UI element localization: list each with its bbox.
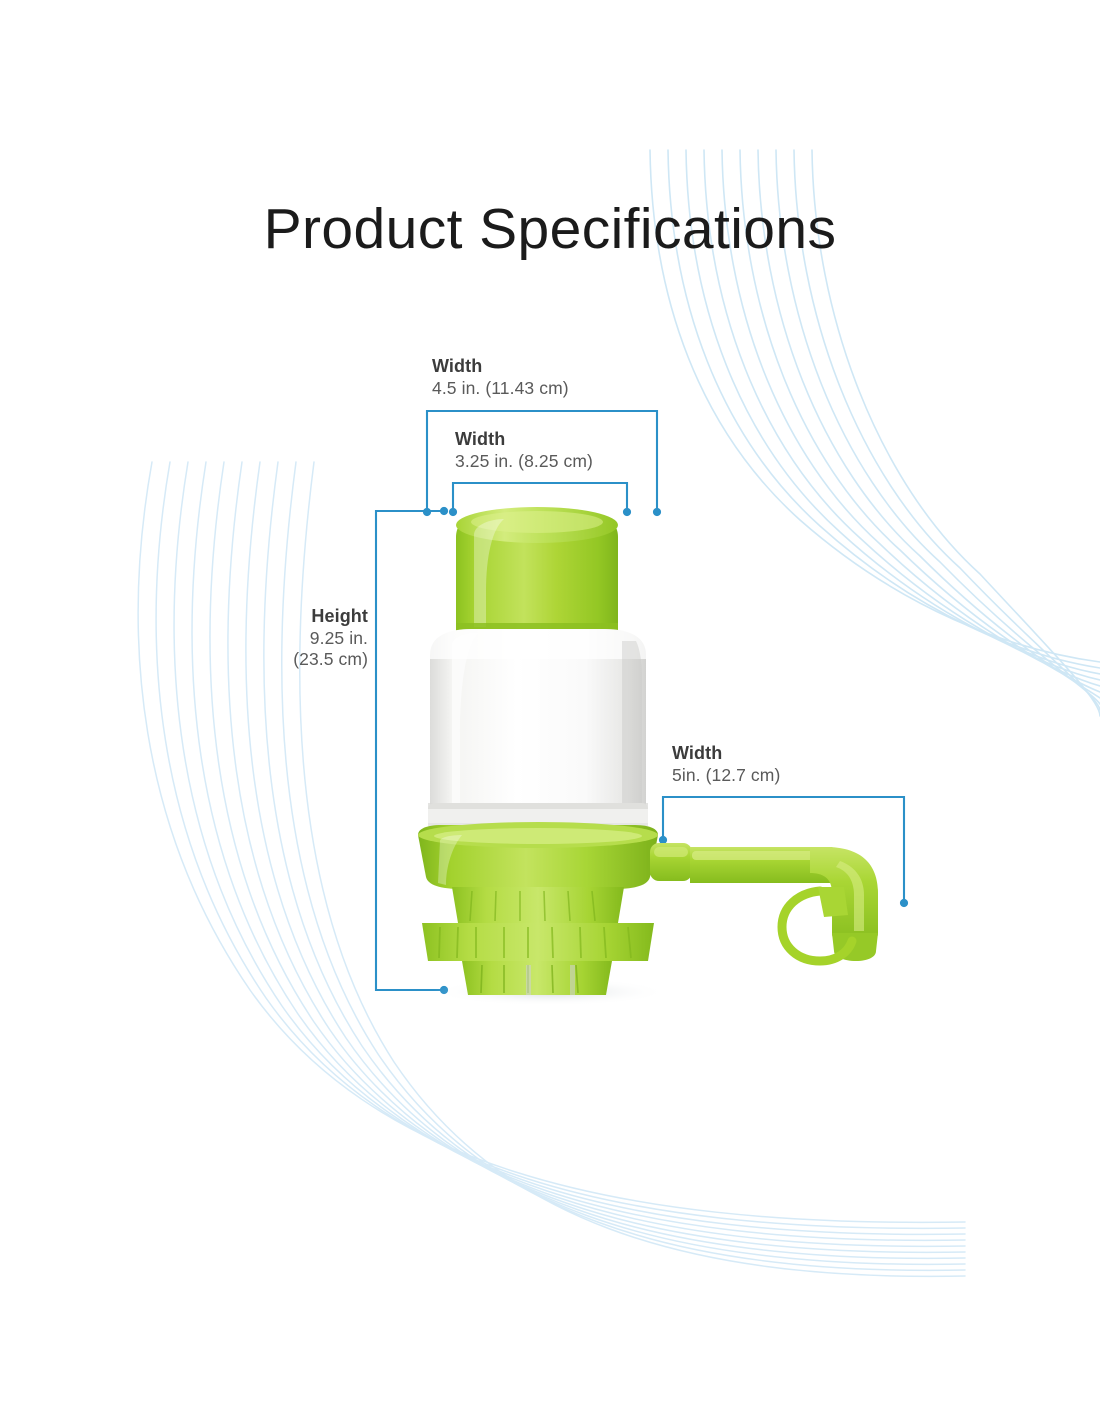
measurement-value-line2: (23.5 cm) <box>258 649 368 671</box>
specification-page: Product Specifications <box>0 0 1100 1422</box>
measurement-name: Width <box>672 742 780 765</box>
measurement-label-height: Height 9.25 in. (23.5 cm) <box>258 605 368 671</box>
measurement-label-width-outer: Width 4.5 in. (11.43 cm) <box>432 355 569 399</box>
bottle-adapter-part <box>422 887 654 995</box>
measurement-value: 5in. (12.7 cm) <box>672 765 780 787</box>
measurement-name: Height <box>258 605 368 628</box>
base-collar-part <box>418 822 658 889</box>
measurement-value: 3.25 in. (8.25 cm) <box>455 451 593 473</box>
measurement-name: Width <box>432 355 569 378</box>
spout-part <box>650 843 878 961</box>
measurement-name: Width <box>455 428 593 451</box>
page-title: Product Specifications <box>0 196 1100 262</box>
measurement-value: 4.5 in. (11.43 cm) <box>432 378 569 400</box>
measurement-label-width-spout: Width 5in. (12.7 cm) <box>672 742 780 786</box>
measurement-value-line1: 9.25 in. <box>258 628 368 650</box>
pump-body-part <box>428 629 648 829</box>
measurement-label-width-inner: Width 3.25 in. (8.25 cm) <box>455 428 593 472</box>
pump-cap-part <box>456 507 618 633</box>
product-image-water-pump-dispenser <box>400 495 930 1005</box>
